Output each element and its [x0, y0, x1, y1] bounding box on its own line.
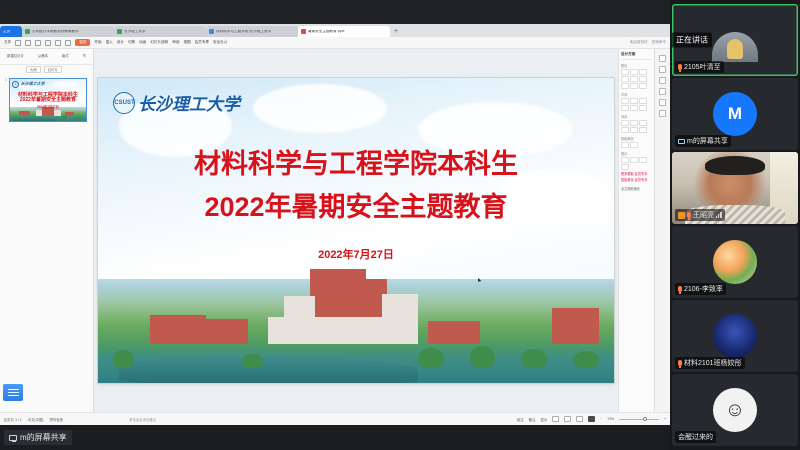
notes-button[interactable]: 备注 [529, 417, 536, 422]
participant-tile[interactable]: 王昭亮 [672, 152, 798, 224]
screen-share-chip: m的屏幕共享 [4, 430, 72, 445]
zoom-out-button[interactable]: − [600, 417, 602, 421]
shared-desktop-frame: 主页 公司统计学院教务处教育教学 长沙理工大学 材料科学与工程学院-长沙理工大学… [0, 24, 670, 425]
new-slide-button[interactable]: 新建幻灯片 [7, 54, 24, 58]
color-swatch[interactable] [639, 76, 647, 82]
view-normal-icon[interactable] [552, 416, 559, 422]
slide-counter: 幻灯片 1 / 1 [4, 417, 22, 422]
wps-workspace: 新建幻灯片 从稿本 版式 节 大纲 幻灯片 1 [0, 49, 670, 412]
save-icon[interactable] [35, 40, 41, 46]
notes-placeholder[interactable]: 单击此处添加备注 [129, 417, 156, 422]
browser-tab-strip: 主页 公司统计学院教务处教育教学 长沙理工大学 材料科学与工程学院-长沙理工大学… [0, 24, 670, 37]
task-pane-group-font: 字体 [621, 92, 652, 111]
layout-swatch[interactable] [630, 142, 638, 148]
image-panel-icon[interactable] [659, 110, 666, 117]
design-panel-icon[interactable] [659, 55, 666, 62]
background-swatch[interactable] [630, 127, 638, 133]
thumbnail-date: 2022年7月27日 [10, 104, 86, 109]
task-pane-title: 设计方案 [621, 52, 652, 60]
pinned-tab[interactable]: 主页 [0, 26, 22, 37]
microphone-icon [678, 360, 682, 366]
browser-tab-label: 材料科学与工程学院-长沙理工大学 [216, 30, 271, 34]
color-swatch[interactable] [621, 69, 629, 75]
participant-tile[interactable]: 正在讲话 2105叶清至 [672, 4, 798, 76]
slide-date: 2022年7月27日 [98, 246, 614, 262]
floating-menu-button[interactable] [3, 384, 23, 401]
zoom-in-button[interactable]: + [664, 417, 666, 421]
redo-icon[interactable] [65, 40, 71, 46]
slide-canvas[interactable]: CSUST 长沙理工大学 材料科学与工程学院本科生 2022年暑期安全主题教育 … [98, 78, 614, 383]
font-swatch[interactable] [639, 98, 647, 104]
ribbon-tab-animation[interactable]: 动画 [139, 40, 146, 45]
avatar [713, 314, 757, 358]
design-task-pane: 设计方案 配色 字体 [618, 49, 654, 412]
participant-filmstrip: 正在讲话 2105叶清至 M m的屏幕共享 王昭亮 2106-李致率 [670, 0, 800, 450]
wps-ribbon: 文件 保存 开始 插入 设计 切换 动画 幻灯片放映 审阅 视图 会员专享 安全… [0, 37, 670, 49]
participant-name: 2106-李致率 [684, 284, 723, 294]
slide-title-line2: 2022年暑期安全主题教育 [98, 191, 614, 224]
microphone-icon [678, 64, 682, 70]
resource-panel-icon[interactable] [659, 66, 666, 73]
ribbon-tab-view[interactable]: 视图 [183, 40, 190, 45]
participant-name-chip: 会醒过来的 [675, 431, 716, 443]
participant-name: 2105叶清至 [684, 62, 721, 72]
open-file-icon[interactable] [25, 40, 31, 46]
background-swatch[interactable] [621, 127, 629, 133]
color-swatch[interactable] [630, 76, 638, 82]
group-label: 字体 [621, 92, 652, 97]
slide-canvas-pane: CSUST 长沙理工大学 材料科学与工程学院本科生 2022年暑期安全主题教育 … [94, 49, 618, 412]
group-label: 配色 [621, 63, 652, 68]
screen-share-icon [678, 139, 685, 144]
participant-name: 会醒过来的 [678, 432, 713, 442]
ribbon-tab-slideshow[interactable]: 幻灯片放映 [150, 40, 168, 45]
right-icon-rail [654, 49, 670, 412]
thumbnail-title-line2: 2022年暑期安全主题教育 [10, 97, 86, 103]
speaking-indicator: 正在讲话 [672, 33, 712, 48]
comment-button[interactable]: 批注 [517, 417, 524, 422]
participant-name-chip: 王昭亮 [675, 209, 725, 221]
view-slideshow-icon[interactable] [588, 416, 595, 422]
file-menu-button[interactable]: 文件 [4, 40, 11, 45]
undo-icon[interactable] [55, 40, 61, 46]
color-swatch[interactable] [639, 83, 647, 89]
thumbnail-slide-preview: C 长沙理工大学 材料科学与工程学院本科生 2022年暑期安全主题教育 2022… [10, 79, 86, 121]
spellcheck-label[interactable]: 拼写检查 [50, 417, 64, 422]
diagram-swatch[interactable] [621, 164, 629, 170]
view-reading-icon[interactable] [576, 416, 583, 422]
tab-favicon-icon [209, 29, 214, 34]
section-button[interactable]: 节 [83, 54, 86, 58]
browser-tab[interactable]: 长沙理工大学 [114, 26, 206, 37]
display-button[interactable]: 显示 [540, 417, 547, 422]
university-logo-text: 长沙理工大学 [138, 90, 240, 115]
browser-tab-label: 长沙理工大学 [124, 30, 146, 34]
participant-name: m的屏幕共享 [687, 136, 728, 146]
diagram-swatch[interactable] [639, 157, 647, 163]
diagram-swatch[interactable] [630, 157, 638, 163]
font-swatch[interactable] [621, 105, 629, 111]
browser-tab-label: 暑期安全主题教育.pptx [308, 30, 345, 34]
collab-status-label[interactable]: 未启用协作 [630, 40, 648, 45]
host-badge-icon [678, 212, 685, 219]
participant-name-chip: 材料2101班杨姣彤 [675, 357, 745, 369]
microphone-icon [687, 212, 691, 218]
university-logo-text: 长沙理工大学 [21, 81, 45, 87]
tab-favicon-icon [301, 29, 306, 34]
group-label: 背景 [621, 114, 652, 119]
smart-beautify-link[interactable]: 智能美化 会员专享 [621, 177, 652, 182]
text-panel-icon[interactable] [659, 77, 666, 84]
color-swatch[interactable] [639, 69, 647, 75]
thumbnail-slide-1[interactable]: C 长沙理工大学 材料科学与工程学院本科生 2022年暑期安全主题教育 2022… [9, 78, 87, 122]
participant-tile[interactable]: 材料2101班杨姣彤 [672, 300, 798, 372]
avatar: M [713, 92, 757, 136]
chart-panel-icon[interactable] [659, 99, 666, 106]
tab-slides[interactable]: 幻灯片 [44, 66, 62, 73]
view-sorter-icon[interactable] [564, 416, 571, 422]
ribbon-tab-insert[interactable]: 插入 [106, 40, 113, 45]
university-logo-icon: CSUST [113, 92, 135, 114]
language-label[interactable]: 中文(中国) [28, 417, 44, 422]
wps-status-bar: 幻灯片 1 / 1 中文(中国) 拼写检查 单击此处添加备注 批注 备注 显示 … [0, 412, 670, 425]
avatar [712, 32, 758, 62]
thumbnail-toolbar: 新建幻灯片 从稿本 版式 节 [0, 49, 93, 65]
ribbon-tab-review[interactable]: 审阅 [172, 40, 179, 45]
color-swatch[interactable] [621, 76, 629, 82]
slide-logo: CSUST 长沙理工大学 [113, 90, 237, 115]
task-pane-group-diagram: 图示 [621, 151, 652, 170]
find-command-button[interactable]: 查找命令 [652, 40, 666, 45]
diagram-swatch[interactable] [621, 157, 629, 163]
ribbon-tab-member[interactable]: 会员专享 [195, 40, 209, 45]
zoom-slider-handle[interactable] [643, 417, 647, 421]
slide-content: CSUST 长沙理工大学 材料科学与工程学院本科生 2022年暑期安全主题教育 … [98, 78, 614, 383]
layout-button[interactable]: 版式 [62, 54, 69, 58]
group-label: 图示 [621, 151, 652, 156]
screen-share-region: 主页 公司统计学院教务处教育教学 长沙理工大学 材料科学与工程学院-长沙理工大学… [0, 0, 670, 450]
avatar [713, 240, 757, 284]
participant-tile[interactable]: 2106-李致率 [672, 226, 798, 298]
task-pane-group-background: 背景 [621, 114, 652, 133]
shapes-panel-icon[interactable] [659, 88, 666, 95]
task-pane-group-color: 配色 [621, 63, 652, 89]
font-swatch[interactable] [639, 105, 647, 111]
full-text-skin-label[interactable]: 全文换肤美化 [621, 186, 652, 191]
task-pane-group-layout: 排版美化 [621, 136, 652, 148]
browser-tab-active[interactable]: 暑期安全主题教育.pptx [298, 26, 390, 37]
ribbon-tab-design[interactable]: 设计 [117, 40, 124, 45]
thumbnail-slide-number: 1 [5, 78, 7, 82]
screen-share-status-bar: m的屏幕共享 [0, 425, 670, 450]
hamburger-icon [8, 389, 19, 397]
participant-name-chip: 2106-李致率 [675, 283, 726, 295]
browser-tab[interactable]: 公司统计学院教务处教育教学 [22, 26, 114, 37]
microphone-icon [678, 286, 682, 292]
background-swatch[interactable] [639, 127, 647, 133]
font-swatch[interactable] [621, 98, 629, 104]
new-tab-button[interactable]: + [390, 26, 402, 37]
slide-thumbnail-pane: 新建幻灯片 从稿本 版式 节 大纲 幻灯片 1 [0, 49, 94, 412]
signal-strength-icon [716, 212, 722, 218]
thumbnail-tab-row: 大纲 幻灯片 [0, 65, 93, 74]
background-swatch[interactable] [621, 120, 629, 126]
tab-outline[interactable]: 大纲 [26, 66, 41, 73]
group-label: 排版美化 [621, 136, 652, 141]
tab-favicon-icon [25, 29, 30, 34]
print-icon[interactable] [45, 40, 51, 46]
screen-share-label: m的屏幕共享 [20, 432, 67, 443]
ribbon-tab-transition[interactable]: 切换 [128, 40, 135, 45]
slide-title-line1: 材料科学与工程学院本科生 [98, 148, 614, 181]
ribbon-tab-security[interactable]: 安全办公 [213, 40, 227, 45]
zoom-level-label[interactable]: 72% [607, 417, 614, 421]
color-swatch[interactable] [630, 69, 638, 75]
color-swatch[interactable] [621, 83, 629, 89]
background-swatch[interactable] [630, 120, 638, 126]
thumbnail-list: 1 [0, 74, 93, 126]
participant-name: 材料2101班杨姣彤 [684, 358, 742, 368]
ribbon-tab-start[interactable]: 开始 [94, 40, 101, 45]
tab-favicon-icon [117, 29, 122, 34]
participant-tile[interactable]: M m的屏幕共享 [672, 78, 798, 150]
color-swatch[interactable] [630, 83, 638, 89]
background-swatch[interactable] [639, 120, 647, 126]
avatar: ☺ [713, 388, 757, 432]
participant-name-chip: 2105叶清至 [675, 61, 724, 73]
save-button[interactable]: 保存 [75, 39, 90, 46]
font-swatch[interactable] [630, 105, 638, 111]
new-document-icon[interactable] [15, 40, 21, 46]
pinned-tab-label: 主页 [3, 30, 10, 34]
screen-share-icon [9, 435, 17, 441]
university-logo-icon: C [12, 81, 19, 88]
browser-tab-label: 公司统计学院教务处教育教学 [32, 30, 79, 34]
browser-tab[interactable]: 材料科学与工程学院-长沙理工大学 [206, 26, 298, 37]
from-outline-button[interactable]: 从稿本 [38, 54, 48, 58]
zoom-slider[interactable] [619, 419, 659, 420]
participant-tile[interactable]: ☺ 会醒过来的 [672, 374, 798, 446]
participant-name-chip: m的屏幕共享 [675, 135, 731, 147]
participant-name: 王昭亮 [693, 210, 714, 220]
font-swatch[interactable] [630, 98, 638, 104]
layout-swatch[interactable] [621, 142, 629, 148]
more-templates-link[interactable]: 更多模板 会员专享 [621, 171, 652, 176]
